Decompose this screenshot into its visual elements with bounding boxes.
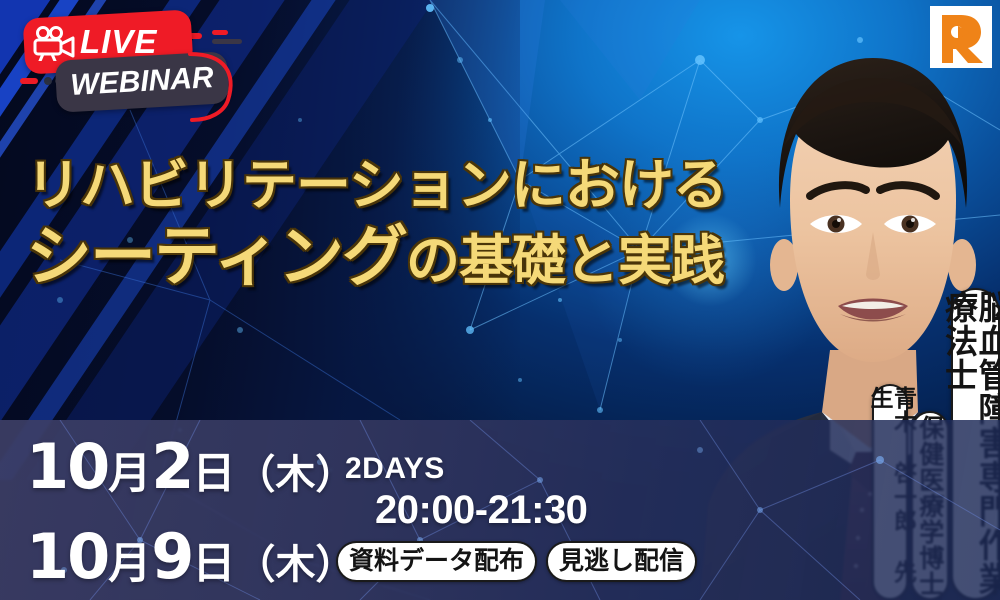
date-row: 10月9日（木）	[26, 520, 355, 600]
title-line-1: リハビリテーションにおける	[26, 152, 746, 218]
feature-badge-materials: 資料データ配布	[336, 541, 537, 582]
logo-r-icon	[933, 9, 989, 65]
date-2-month-kanji: 月	[108, 539, 151, 589]
date-list: 10月2日（木） 10月9日（木）	[26, 430, 355, 600]
title-rest: の基礎と実践	[406, 229, 724, 292]
schedule-panel: 10月2日（木） 10月9日（木） 2DAYS 20:00-21:30 資料デー…	[0, 420, 1000, 600]
movie-camera-icon	[32, 25, 78, 61]
date-1-month: 10	[26, 430, 108, 503]
webinar-badge-pill: WEBINAR	[55, 51, 230, 113]
live-webinar-badge: LIVE WEBINAR	[18, 14, 248, 119]
date-1-day-kanji: 日	[192, 449, 235, 499]
title-emphasis: シーティング	[26, 218, 406, 295]
feature-badges: 資料データ配布 見逃し配信	[336, 541, 697, 582]
days-count-label: 2DAYS	[345, 452, 587, 486]
time-block: 2DAYS 20:00-21:30	[345, 452, 587, 533]
date-1-month-kanji: 月	[108, 449, 151, 499]
date-2-day: 9	[151, 520, 192, 593]
feature-badge-replay: 見逃し配信	[546, 541, 697, 582]
date-2-day-kanji: 日	[192, 539, 235, 589]
title-line-2: シーティングの基礎と実践	[26, 220, 746, 298]
webinar-label: WEBINAR	[55, 55, 229, 109]
date-2-month: 10	[26, 520, 108, 593]
brand-logo[interactable]	[930, 6, 992, 68]
title-block: リハビリテーションにおける シーティングの基礎と実践	[26, 152, 746, 298]
date-row: 10月2日（木）	[26, 430, 355, 520]
date-1-weekday: （木）	[235, 452, 355, 498]
time-range-label: 20:00-21:30	[375, 488, 587, 533]
date-1-day: 2	[151, 430, 192, 503]
webinar-banner: LIVE WEBINAR リハビリテーションにおける シーティングの基礎と実践 …	[0, 0, 1000, 600]
